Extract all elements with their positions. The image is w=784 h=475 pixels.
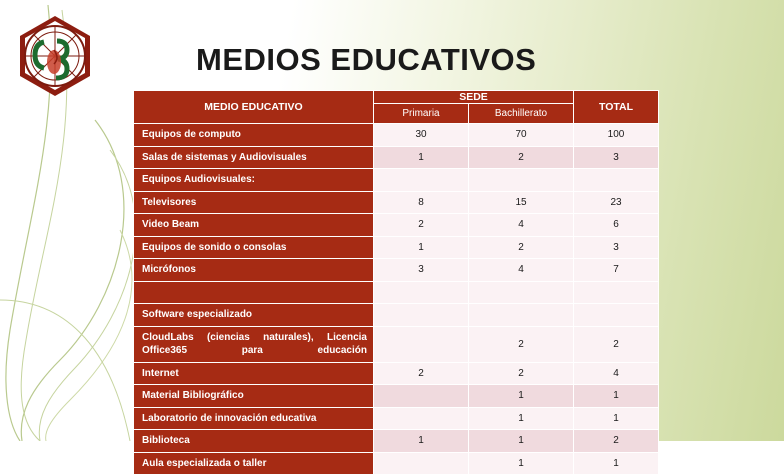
table-row: Internet224	[134, 362, 659, 385]
cell-bachillerato: 2	[469, 146, 574, 169]
cell-bachillerato	[469, 281, 574, 304]
cell-primaria	[374, 169, 469, 192]
cell-bachillerato: 1	[469, 452, 574, 475]
cell-primaria	[374, 326, 469, 362]
row-label	[134, 281, 374, 304]
table-header-row: MEDIO EDUCATIVO SEDE TOTAL	[134, 91, 659, 104]
cell-total: 2	[574, 326, 659, 362]
cell-primaria: 1	[374, 236, 469, 259]
table-row: Material Bibliográfico 11	[134, 385, 659, 408]
table-row: Salas de sistemas y Audiovisuales123	[134, 146, 659, 169]
table-row: CloudLabs (ciencias naturales), Licencia…	[134, 326, 659, 362]
row-label: Aula especializada o taller	[134, 452, 374, 475]
row-label: Equipos Audiovisuales:	[134, 169, 374, 192]
cell-total	[574, 169, 659, 192]
page-title: MEDIOS EDUCATIVOS	[196, 42, 536, 78]
header-sede: SEDE	[374, 91, 574, 104]
header-medio-educativo: MEDIO EDUCATIVO	[134, 91, 374, 124]
cell-total: 23	[574, 191, 659, 214]
header-bachillerato: Bachillerato	[469, 104, 574, 124]
cell-primaria	[374, 452, 469, 475]
table-body: Equipos de computo3070100Salas de sistem…	[134, 124, 659, 475]
cell-bachillerato	[469, 304, 574, 327]
cell-primaria	[374, 407, 469, 430]
cell-primaria: 2	[374, 362, 469, 385]
row-label: Software especializado	[134, 304, 374, 327]
cell-total: 3	[574, 146, 659, 169]
cell-total: 100	[574, 124, 659, 147]
cell-bachillerato: 4	[469, 259, 574, 282]
row-label: Laboratorio de innovación educativa	[134, 407, 374, 430]
cell-total: 3	[574, 236, 659, 259]
table-row: Equipos de sonido o consolas123	[134, 236, 659, 259]
table-row: Equipos Audiovisuales:	[134, 169, 659, 192]
table-row: Equipos de computo3070100	[134, 124, 659, 147]
cell-bachillerato: 2	[469, 362, 574, 385]
cell-bachillerato: 2	[469, 236, 574, 259]
table-row	[134, 281, 659, 304]
cell-total: 1	[574, 407, 659, 430]
row-label: Micrófonos	[134, 259, 374, 282]
row-label: Equipos de computo	[134, 124, 374, 147]
table-row: Televisores81523	[134, 191, 659, 214]
row-label: Salas de sistemas y Audiovisuales	[134, 146, 374, 169]
cell-primaria: 2	[374, 214, 469, 237]
institution-crest-logo	[10, 14, 100, 104]
cell-total: 6	[574, 214, 659, 237]
cell-primaria: 3	[374, 259, 469, 282]
cell-primaria	[374, 385, 469, 408]
slide-canvas: MEDIOS EDUCATIVOS MEDIO EDUCATIVO SEDE T…	[0, 0, 784, 441]
cell-total: 4	[574, 362, 659, 385]
cell-bachillerato: 1	[469, 385, 574, 408]
table-row: Software especializado	[134, 304, 659, 327]
table-row: Laboratorio de innovación educativa 11	[134, 407, 659, 430]
header-total: TOTAL	[574, 91, 659, 124]
row-label: Video Beam	[134, 214, 374, 237]
row-label: Material Bibliográfico	[134, 385, 374, 408]
row-label: Internet	[134, 362, 374, 385]
cell-primaria: 1	[374, 146, 469, 169]
header-primaria: Primaria	[374, 104, 469, 124]
cell-primaria	[374, 281, 469, 304]
cell-bachillerato	[469, 169, 574, 192]
table-row: Micrófonos347	[134, 259, 659, 282]
table-row: Video Beam246	[134, 214, 659, 237]
cell-total: 7	[574, 259, 659, 282]
cell-primaria: 8	[374, 191, 469, 214]
cell-total	[574, 304, 659, 327]
cell-total: 1	[574, 452, 659, 475]
cell-bachillerato: 70	[469, 124, 574, 147]
row-label: CloudLabs (ciencias naturales), Licencia…	[134, 326, 374, 362]
cell-bachillerato: 1	[469, 407, 574, 430]
cell-bachillerato: 2	[469, 326, 574, 362]
table: MEDIO EDUCATIVO SEDE TOTAL Primaria Bach…	[133, 90, 659, 475]
medios-educativos-table: MEDIO EDUCATIVO SEDE TOTAL Primaria Bach…	[133, 90, 658, 475]
cell-bachillerato: 4	[469, 214, 574, 237]
row-label: Equipos de sonido o consolas	[134, 236, 374, 259]
row-label: Televisores	[134, 191, 374, 214]
cell-primaria	[374, 304, 469, 327]
cell-primaria: 30	[374, 124, 469, 147]
cell-total: 1	[574, 385, 659, 408]
table-row: Aula especializada o taller 11	[134, 452, 659, 475]
cell-bachillerato: 15	[469, 191, 574, 214]
cell-total	[574, 281, 659, 304]
